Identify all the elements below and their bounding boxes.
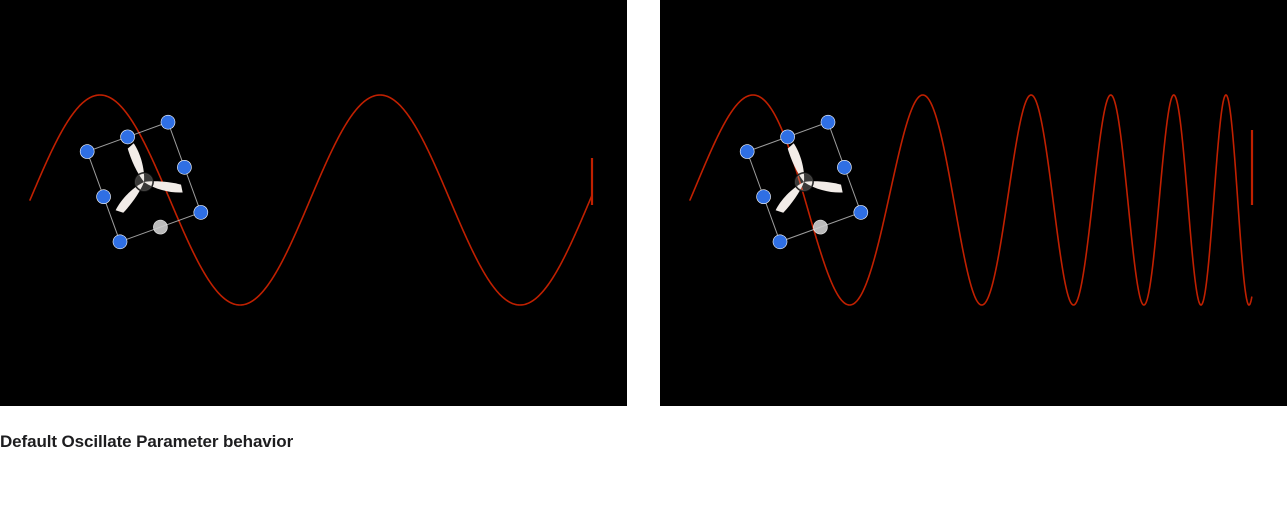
canvas-background <box>660 0 1287 406</box>
figure-root: Default Oscillate Parameter behavior Osc… <box>0 0 1287 505</box>
panel-keyframed-speed: Oscillate Parameter behavior with keyfra… <box>660 0 1287 406</box>
canvas-keyframed-speed[interactable] <box>660 0 1287 406</box>
panel-default-oscillate: Default Oscillate Parameter behavior <box>0 0 627 406</box>
canvas-background <box>0 0 627 406</box>
caption-default-oscillate: Default Oscillate Parameter behavior <box>0 430 620 455</box>
canvas-default-oscillate[interactable] <box>0 0 627 406</box>
